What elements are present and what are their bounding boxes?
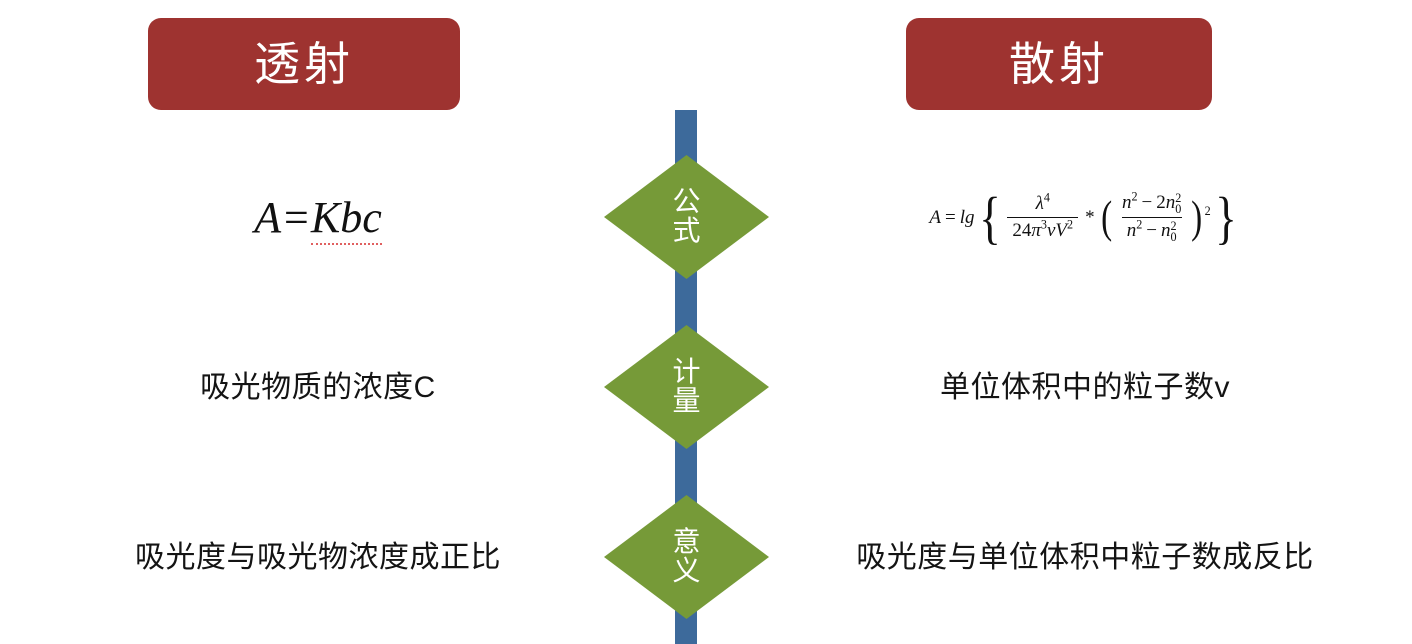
- cell-right-measurement-text: 单位体积中的粒子数v: [940, 368, 1230, 408]
- n0-subscript: 0: [1175, 204, 1181, 215]
- diamond-node-significance[interactable]: 意义: [604, 495, 769, 619]
- diamond-label-measurement: 计量: [671, 358, 702, 415]
- formula-open-paren: (: [1101, 200, 1112, 235]
- n-symbol: n: [1127, 220, 1137, 241]
- minus-operator: −: [1138, 192, 1157, 213]
- formula-fraction-2: n2−2n20 n2−n20: [1117, 192, 1186, 243]
- formula-open-brace: {: [979, 196, 1001, 240]
- minus-operator: −: [1142, 220, 1161, 241]
- formula-fraction-1: λ4 24π3vV2: [1007, 193, 1078, 242]
- n0-sub-sup-group: 20: [1170, 221, 1176, 243]
- header-pill-scattering[interactable]: 散射: [906, 18, 1212, 110]
- comparison-diagram: 透射 散射 公式 计量 意义 A=Kbc A = lg { λ4 24π3vV2…: [0, 0, 1412, 644]
- lambda-symbol: λ: [1036, 193, 1044, 214]
- cell-left-significance-text: 吸光度与吸光物浓度成正比: [135, 538, 501, 578]
- formula-close-brace: }: [1215, 196, 1237, 240]
- cell-right-measurement: 单位体积中的粒子数v: [790, 325, 1380, 450]
- cell-left-formula: A=Kbc: [38, 150, 598, 285]
- header-left-label: 透射: [254, 41, 354, 87]
- formula-fraction-1-numerator: λ4: [1031, 193, 1055, 217]
- n0-symbol: n: [1161, 220, 1171, 241]
- formula-absorbance-beer-law: A=Kbc: [254, 192, 381, 243]
- n-symbol: n: [1122, 192, 1132, 213]
- lambda-exponent: 4: [1044, 191, 1050, 205]
- formula-equals: =: [941, 207, 960, 229]
- formula-multiply: *: [1081, 207, 1099, 229]
- cell-right-formula: A = lg { λ4 24π3vV2 * ( n2−2n20 n2−n20 )…: [790, 150, 1380, 285]
- n-exponent: 2: [1131, 190, 1137, 204]
- formula-lead: A=: [254, 193, 311, 242]
- V-upper-symbol: V: [1055, 220, 1067, 241]
- n0-symbol: n: [1166, 192, 1176, 213]
- formula-fraction-2-numerator: n2−2n20: [1117, 192, 1186, 217]
- cell-left-measurement: 吸光物质的浓度C: [38, 325, 598, 450]
- pi-symbol: π: [1031, 220, 1041, 241]
- formula-fraction-2-denominator: n2−n20: [1122, 217, 1182, 243]
- n0-subscript: 0: [1170, 232, 1176, 243]
- numerator-coefficient: 2: [1156, 192, 1166, 213]
- cell-right-significance: 吸光度与单位体积中粒子数成反比: [790, 490, 1380, 625]
- denominator-coefficient: 24: [1012, 220, 1031, 241]
- formula-scattering-equation: A = lg { λ4 24π3vV2 * ( n2−2n20 n2−n20 )…: [929, 192, 1240, 243]
- diamond-node-measurement[interactable]: 计量: [604, 325, 769, 449]
- formula-log: lg: [960, 207, 975, 229]
- cell-right-significance-text: 吸光度与单位体积中粒子数成反比: [856, 538, 1314, 578]
- cell-left-measurement-text: 吸光物质的浓度C: [200, 368, 436, 408]
- formula-close-paren: ): [1191, 200, 1202, 235]
- formula-underlined-term: Kbc: [311, 193, 382, 245]
- n0-sub-sup-group: 20: [1175, 193, 1181, 215]
- formula-lhs: A: [929, 207, 941, 229]
- header-right-label: 散射: [1009, 41, 1109, 87]
- formula-fraction-1-denominator: 24π3vV2: [1007, 217, 1078, 242]
- diamond-label-formula: 公式: [671, 188, 702, 245]
- V-exponent: 2: [1067, 218, 1073, 232]
- diamond-node-formula[interactable]: 公式: [604, 155, 769, 279]
- cell-left-significance: 吸光度与吸光物浓度成正比: [38, 490, 598, 625]
- diamond-label-significance: 意义: [671, 528, 702, 585]
- header-pill-transmission[interactable]: 透射: [148, 18, 460, 110]
